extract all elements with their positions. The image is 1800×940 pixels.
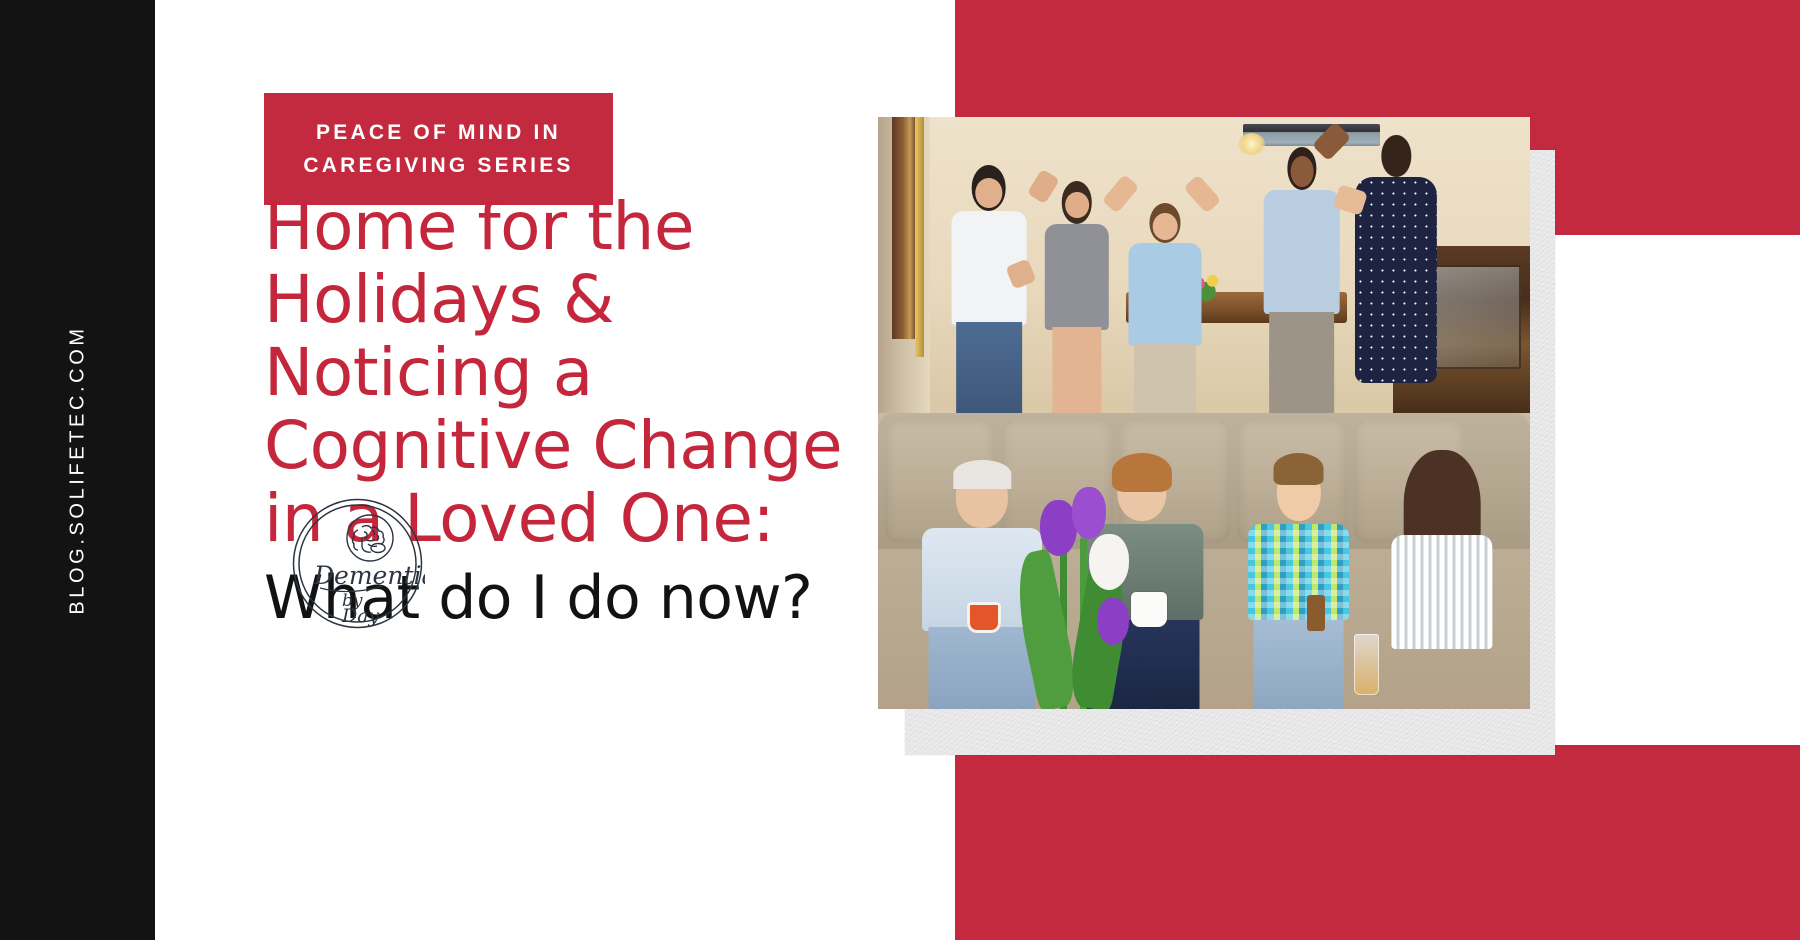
hair	[1112, 453, 1172, 492]
face	[1153, 213, 1178, 240]
hair	[1273, 453, 1324, 485]
orange-mug	[967, 602, 1001, 632]
face	[1290, 156, 1313, 187]
brain-icon	[347, 515, 393, 561]
photo-scene-party	[878, 117, 1530, 425]
logo-artwork: Dementia by Day	[290, 496, 425, 631]
torso	[1263, 190, 1340, 315]
person-young-man-white-shirt	[943, 154, 1034, 425]
series-badge-line-1: PEACE OF MIND IN	[316, 116, 561, 149]
seated-people-row	[878, 531, 1530, 709]
arm-raised-right	[1183, 174, 1221, 213]
person-woman-polka-dot-dress	[1347, 129, 1445, 425]
face	[975, 178, 1002, 208]
torso-dress	[1355, 177, 1437, 384]
blog-url-label: BLOG.SOLIFETEC.COM	[66, 325, 89, 614]
head	[1382, 135, 1411, 176]
poster-canvas: BLOG.SOLIFETEC.COM PEACE OF MIND IN CARE…	[0, 0, 1800, 940]
series-badge-line-2: CAREGIVING SERIES	[303, 149, 573, 182]
smartphone-icon	[1307, 595, 1325, 631]
headline-line-4: Cognitive Change	[264, 409, 944, 482]
dementia-by-day-logo: Dementia by Day	[290, 496, 425, 631]
hair	[954, 460, 1011, 488]
sidebar: BLOG.SOLIFETEC.COM	[0, 0, 155, 940]
photo-scene-family-couch	[878, 413, 1530, 709]
torso-striped-top	[1391, 535, 1492, 649]
face	[1065, 192, 1089, 218]
logo-word-dementia: Dementia	[313, 561, 425, 590]
legs	[1269, 312, 1335, 425]
person-boy-plaid-shirt	[1243, 531, 1354, 709]
headline-line-2: Holidays &	[264, 263, 944, 336]
headline-line-3: Noticing a	[264, 336, 944, 409]
hero-photo	[878, 117, 1530, 709]
legs-jeans	[1253, 620, 1344, 709]
person-young-woman-striped-top	[1374, 531, 1511, 709]
legs	[1052, 327, 1101, 425]
person-man-dark-shirt	[1256, 142, 1347, 425]
tulip-flower-purple	[1072, 487, 1106, 538]
tulip-leaf	[1007, 549, 1082, 709]
tulip-bouquet	[1008, 496, 1151, 709]
red-accent-bottom-right	[955, 745, 1800, 940]
tulip-flower-white	[1089, 534, 1129, 589]
torso	[1045, 224, 1109, 330]
person-man-blue-shirt	[1119, 179, 1210, 425]
drinking-glass	[1354, 634, 1379, 694]
headline-line-1: Home for the	[264, 190, 944, 263]
legs	[956, 322, 1022, 425]
torso	[1128, 243, 1201, 346]
content-column: PEACE OF MIND IN CAREGIVING SERIES Home …	[155, 0, 955, 940]
tulip-flower-purple	[1097, 598, 1129, 645]
torso-plaid-shirt	[1248, 524, 1350, 620]
logo-word-day: Day	[341, 605, 380, 627]
